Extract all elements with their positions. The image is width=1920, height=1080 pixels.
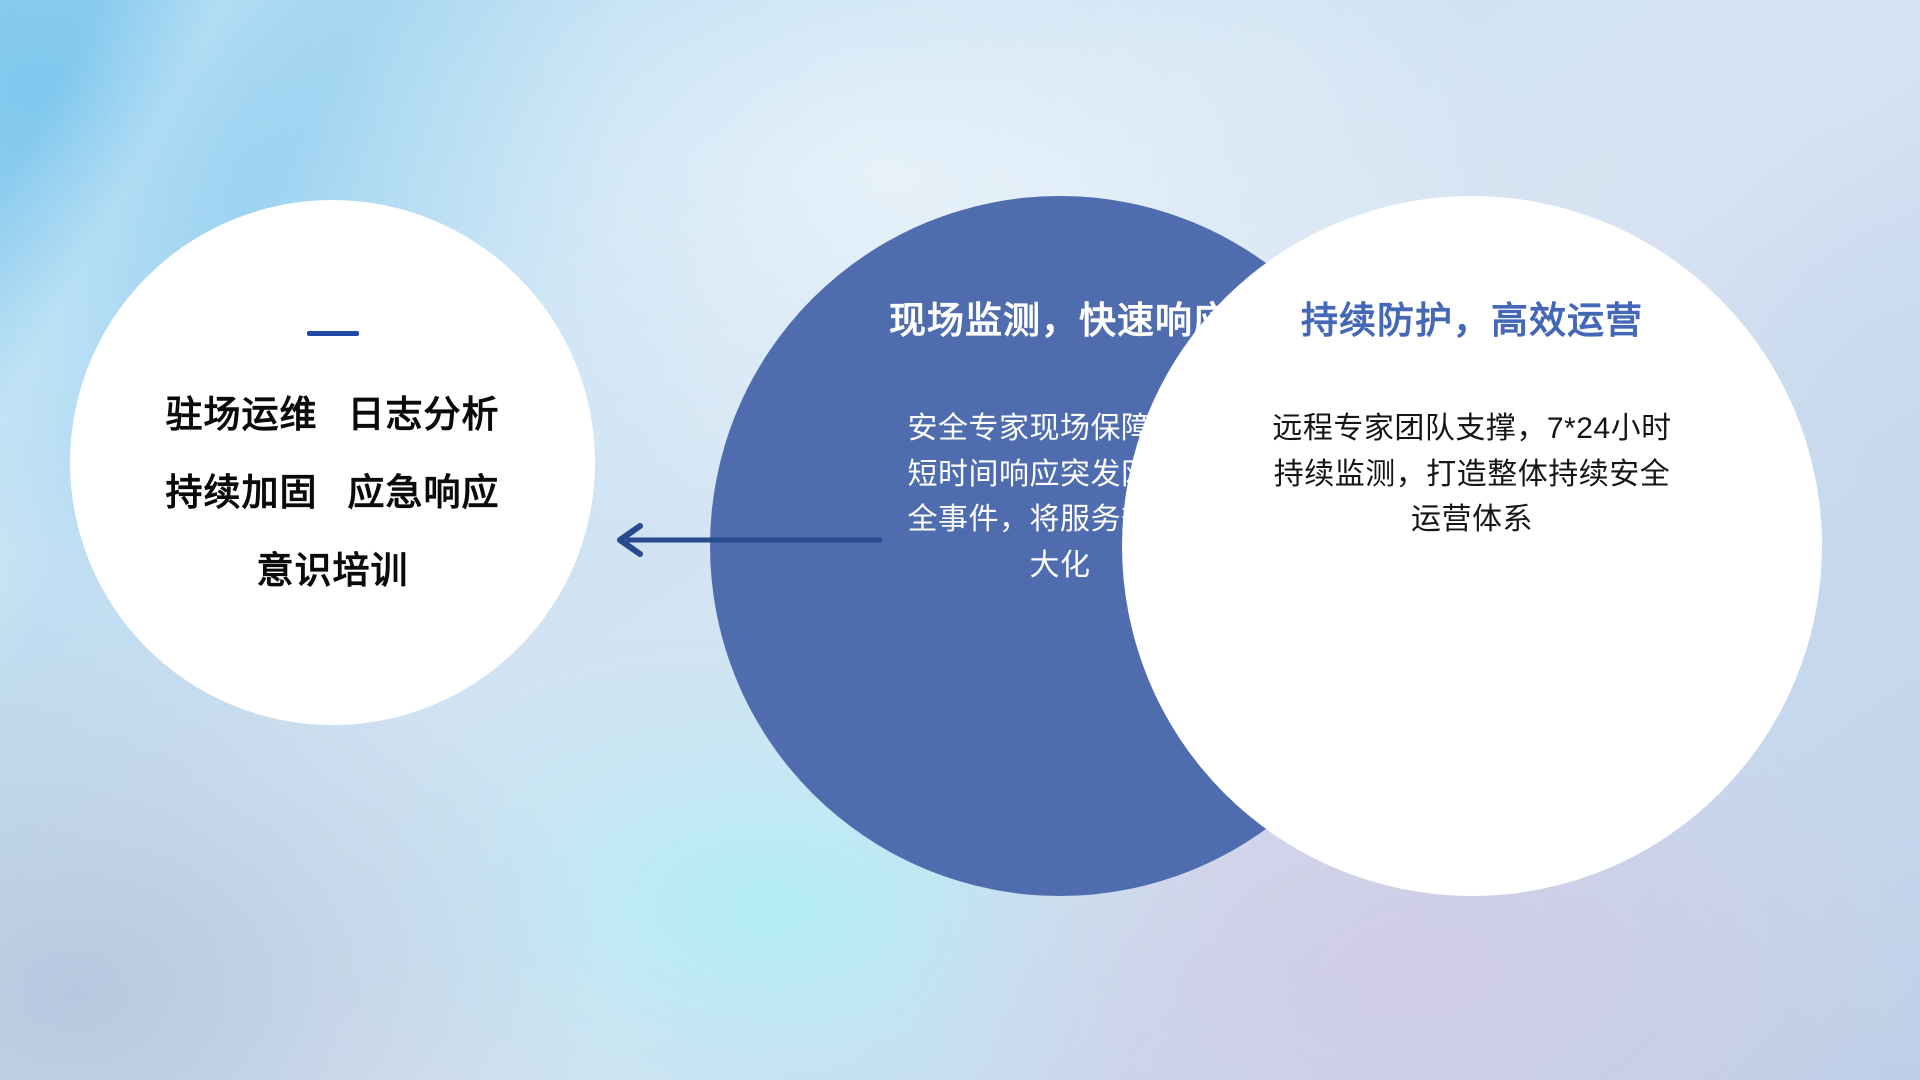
list-item: 驻场运维 xyxy=(166,384,318,438)
flow-arrow xyxy=(604,522,884,558)
infographic-canvas: 驻场运维 日志分析 持续加固 应急响应 意识培训 现场监测，快速响应 安全专家现… xyxy=(0,0,1920,1080)
list-item: 日志分析 xyxy=(348,384,500,438)
list-item: 应急响应 xyxy=(348,462,500,516)
list-item: 意识培训 xyxy=(257,540,409,594)
continuous-protection-title: 持续防护，高效运营 xyxy=(1301,290,1643,344)
capability-tags-circle: 驻场运维 日志分析 持续加固 应急响应 意识培训 xyxy=(70,200,595,725)
divider-line-icon xyxy=(307,331,359,336)
table-row: 驻场运维 日志分析 xyxy=(166,384,500,438)
continuous-protection-circle: 持续防护，高效运营 远程专家团队支撑，7*24小时持续监测，打造整体持续安全运营… xyxy=(1122,196,1822,896)
capability-tag-list: 驻场运维 日志分析 持续加固 应急响应 意识培训 xyxy=(166,384,500,594)
arrow-left-icon xyxy=(604,522,884,558)
continuous-protection-description: 远程专家团队支撑，7*24小时持续监测，打造整体持续安全运营体系 xyxy=(1272,406,1672,543)
list-item: 持续加固 xyxy=(166,462,318,516)
table-row: 意识培训 xyxy=(257,540,409,594)
onsite-monitoring-title: 现场监测，快速响应 xyxy=(889,290,1231,344)
table-row: 持续加固 应急响应 xyxy=(166,462,500,516)
